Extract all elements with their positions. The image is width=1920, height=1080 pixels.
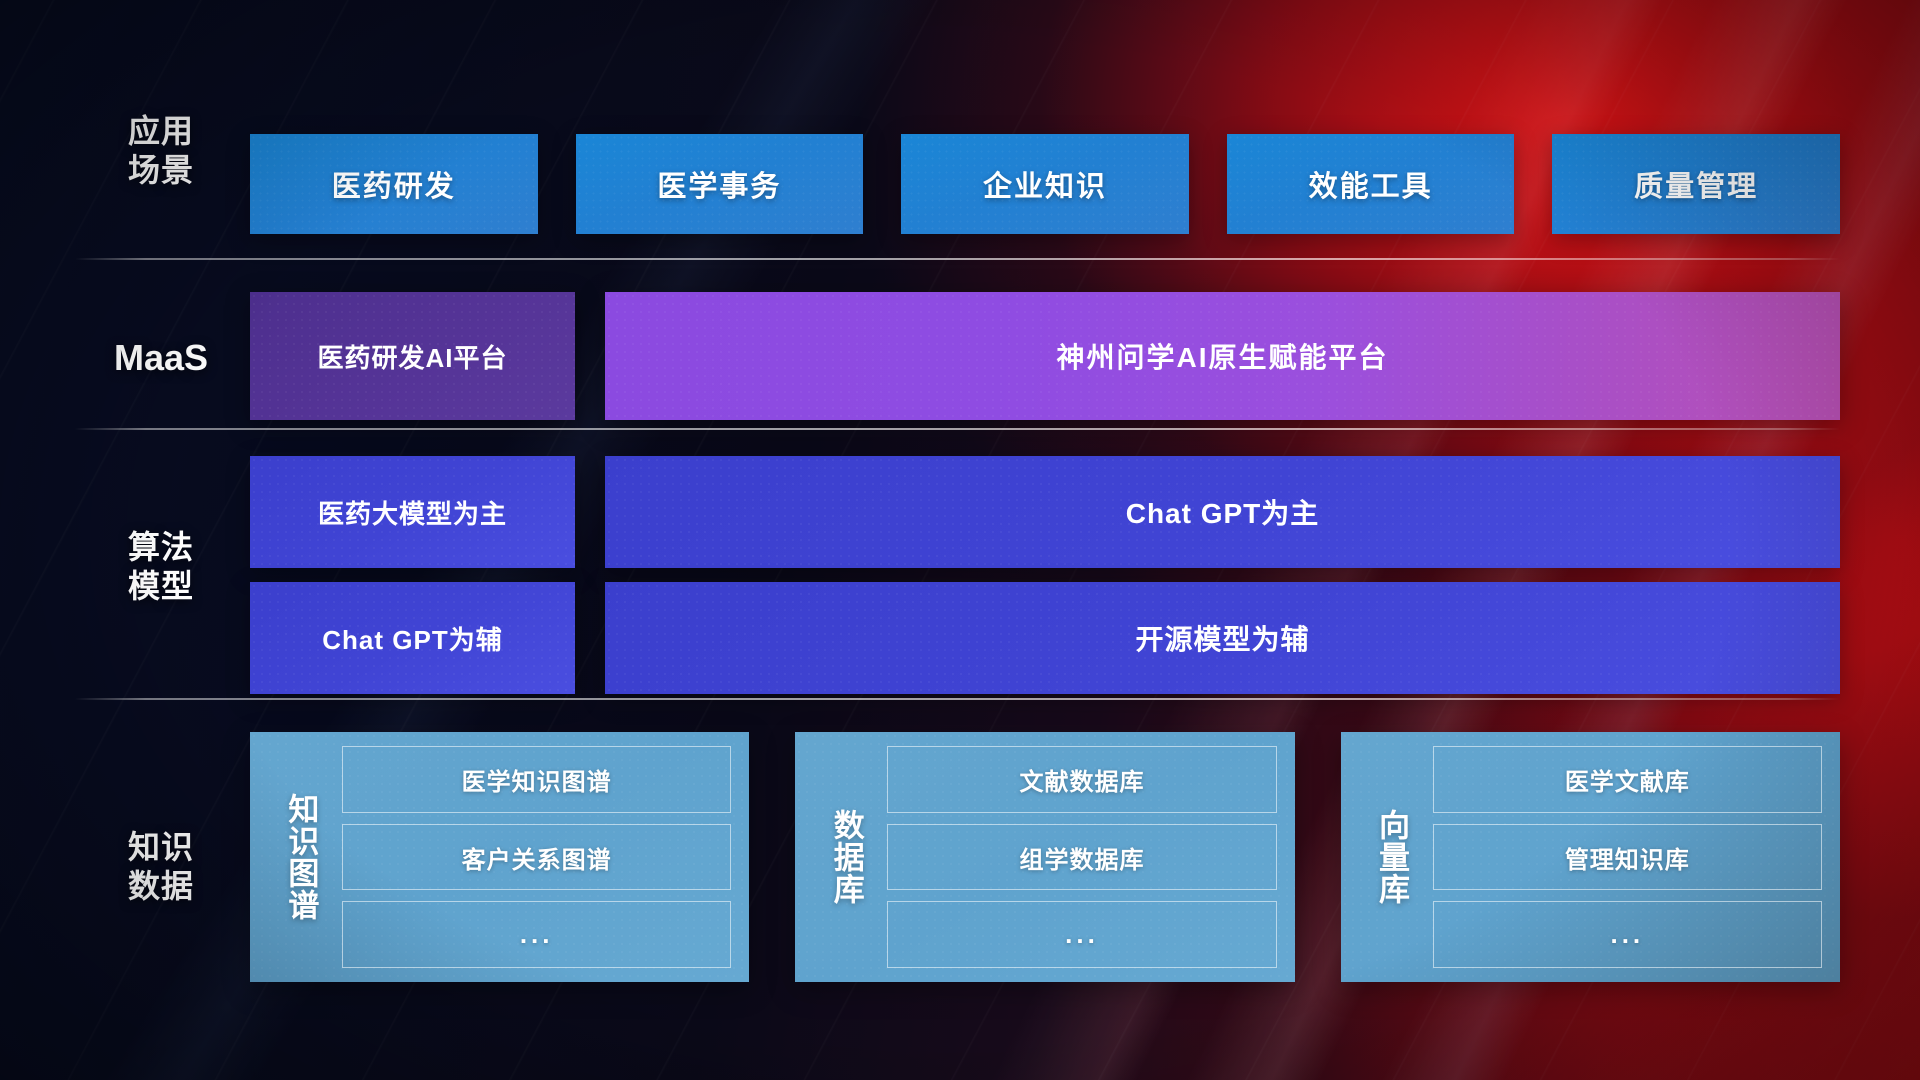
knowledge-item-more-ellipsis[interactable]: ... — [1433, 901, 1822, 968]
scenario-box-efficiency-tools[interactable]: 效能工具 — [1227, 134, 1515, 234]
knowledge-panel-knowledge-graph[interactable]: 知识图谱 医学知识图谱 客户关系图谱 ... — [250, 732, 749, 982]
maas-box-pharma-ai-platform[interactable]: 医药研发AI平台 — [250, 292, 575, 420]
knowledge-panel-title-database: 数据库 — [809, 746, 881, 968]
scenario-box-track: 医药研发 医学事务 企业知识 效能工具 质量管理 — [250, 134, 1840, 234]
scenario-box-quality-management[interactable]: 质量管理 — [1552, 134, 1840, 234]
knowledge-panel-title-vector-store: 向量库 — [1355, 746, 1427, 968]
row-knowledge-data: 知识 数据 知识图谱 医学知识图谱 客户关系图谱 ... 数据库 文献数据库 组… — [0, 700, 1920, 1080]
architecture-diagram: 应用 场景 医药研发 医学事务 企业知识 效能工具 质量管理 MaaS 医药研发… — [0, 0, 1920, 1080]
row-application-scenarios: 应用 场景 医药研发 医学事务 企业知识 效能工具 质量管理 — [0, 0, 1920, 260]
row-label-knowledge-data: 知识 数据 — [86, 828, 236, 906]
row-maas: MaaS 医药研发AI平台 神州问学AI原生赋能平台 — [0, 260, 1920, 430]
knowledge-item-literature-database[interactable]: 文献数据库 — [887, 746, 1276, 813]
knowledge-item-list: 文献数据库 组学数据库 ... — [881, 746, 1276, 968]
scenario-box-pharma-rd[interactable]: 医药研发 — [250, 134, 538, 234]
algo-box-opensource-secondary[interactable]: 开源模型为辅 — [605, 582, 1840, 694]
algo-box-chatgpt-secondary[interactable]: Chat GPT为辅 — [250, 582, 575, 694]
knowledge-item-management-knowledge-store[interactable]: 管理知识库 — [1433, 824, 1822, 891]
knowledge-item-list: 医学文献库 管理知识库 ... — [1427, 746, 1822, 968]
row-label-maas: MaaS — [86, 336, 236, 380]
algo-box-pharma-llm-primary[interactable]: 医药大模型为主 — [250, 456, 575, 568]
knowledge-panel-title-knowledge-graph: 知识图谱 — [264, 746, 336, 968]
knowledge-item-list: 医学知识图谱 客户关系图谱 ... — [336, 746, 731, 968]
row-algorithm-models: 算法 模型 医药大模型为主 Chat GPT为主 Chat GPT为辅 开源模型… — [0, 430, 1920, 700]
algo-box-chatgpt-primary[interactable]: Chat GPT为主 — [605, 456, 1840, 568]
knowledge-item-medical-literature-store[interactable]: 医学文献库 — [1433, 746, 1822, 813]
knowledge-item-medical-knowledge-graph[interactable]: 医学知识图谱 — [342, 746, 731, 813]
knowledge-panel-vector-store[interactable]: 向量库 医学文献库 管理知识库 ... — [1341, 732, 1840, 982]
knowledge-panel-database[interactable]: 数据库 文献数据库 组学数据库 ... — [795, 732, 1294, 982]
knowledge-item-more-ellipsis[interactable]: ... — [887, 901, 1276, 968]
knowledge-item-omics-database[interactable]: 组学数据库 — [887, 824, 1276, 891]
maas-box-shenzhou-wenxue-platform[interactable]: 神州问学AI原生赋能平台 — [605, 292, 1840, 420]
knowledge-item-more-ellipsis[interactable]: ... — [342, 901, 731, 968]
scenario-box-enterprise-knowledge[interactable]: 企业知识 — [901, 134, 1189, 234]
row-label-application-scenarios: 应用 场景 — [86, 112, 236, 190]
row-label-algorithm-models: 算法 模型 — [86, 528, 236, 606]
knowledge-panel-track: 知识图谱 医学知识图谱 客户关系图谱 ... 数据库 文献数据库 组学数据库 .… — [250, 732, 1840, 982]
scenario-box-medical-affairs[interactable]: 医学事务 — [576, 134, 864, 234]
knowledge-item-customer-relation-graph[interactable]: 客户关系图谱 — [342, 824, 731, 891]
